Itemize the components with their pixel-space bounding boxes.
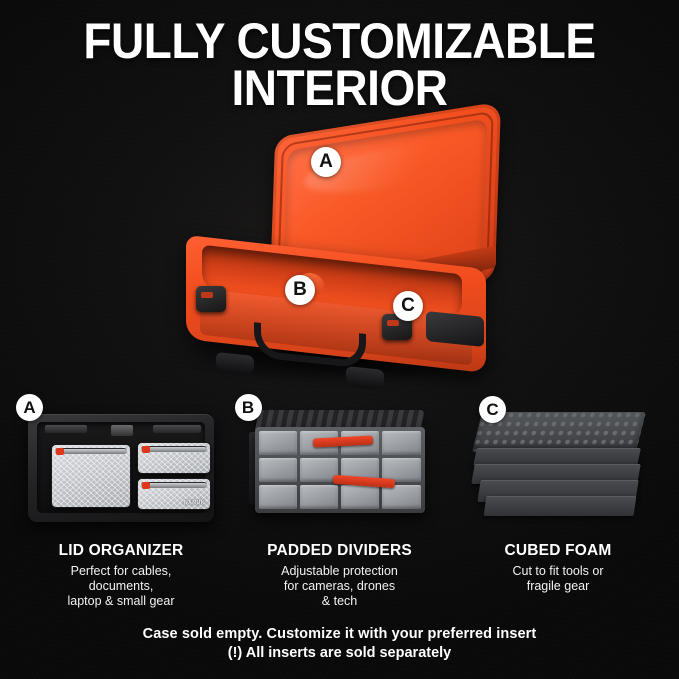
infographic-poster: FULLY CUSTOMIZABLE INTERIOR A B C [0, 0, 679, 679]
card-desc-line: Perfect for cables, [22, 564, 220, 579]
divider-cell [259, 431, 297, 455]
page-title-line-2: INTERIOR [27, 65, 652, 112]
foam-stack [471, 412, 647, 522]
brand-logo: NANUK [184, 500, 205, 506]
foam-layer [484, 496, 637, 516]
insert-options-row: NANUK A LID ORGANIZER Perfect for cables… [0, 398, 679, 608]
card-desc-line: & tech [241, 594, 439, 609]
card-title-padded-dividers: PADDED DIVIDERS [241, 542, 439, 560]
card-title-cubed-foam: CUBED FOAM [459, 542, 657, 560]
zipper-icon [141, 482, 207, 488]
card-badge-c: C [479, 396, 506, 423]
hero-case-image: A B C [168, 118, 513, 396]
divider-cell [341, 485, 379, 509]
divider-cell [259, 458, 297, 482]
organizer-tray: NANUK [28, 414, 214, 522]
card-badge-b: B [235, 394, 262, 421]
card-title-lid-organizer: LID ORGANIZER [22, 542, 220, 560]
insert-card-cubed-foam: C CUBED FOAM Cut to fit tools or fragile… [459, 398, 657, 608]
card-desc-line: laptop & small gear [22, 594, 220, 609]
mesh-pouch-large [51, 444, 131, 508]
card-desc-lid-organizer: Perfect for cables, documents, laptop & … [22, 564, 220, 608]
card-desc-padded-dividers: Adjustable protection for cameras, drone… [241, 564, 439, 608]
case-telescoping-handle [426, 311, 484, 347]
case-latch-left [196, 286, 226, 312]
hero-badge-a: A [311, 147, 341, 177]
mesh-pouch-bottom-right: NANUK [137, 478, 211, 510]
case-wheel-right [346, 366, 384, 390]
insert-card-padded-dividers: B PADDED DIVIDERS Adjustable protection … [241, 398, 439, 608]
card-desc-line: documents, [22, 579, 220, 594]
divider-body [255, 427, 425, 513]
padded-dividers-image: B [241, 398, 439, 530]
organizer-tray-interior: NANUK [37, 422, 205, 513]
divider-assembly [249, 410, 431, 522]
cubed-foam-image: C [459, 398, 657, 530]
zipper-icon [141, 446, 207, 452]
organizer-strap-right [153, 425, 201, 433]
card-desc-line: Cut to fit tools or [459, 564, 657, 579]
card-badge-a: A [16, 394, 43, 421]
divider-cell [259, 485, 297, 509]
card-desc-cubed-foam: Cut to fit tools or fragile gear [459, 564, 657, 594]
hero-badge-b: B [285, 275, 315, 305]
zipper-icon [55, 448, 127, 454]
card-desc-line: Adjustable protection [241, 564, 439, 579]
hero-badge-c: C [393, 291, 423, 321]
mesh-pouch-top-right [137, 442, 211, 474]
page-title: FULLY CUSTOMIZABLE INTERIOR [27, 18, 652, 112]
organizer-strap-center [111, 425, 133, 436]
insert-card-lid-organizer: NANUK A LID ORGANIZER Perfect for cables… [22, 398, 220, 608]
divider-cell [300, 485, 338, 509]
footer-line-1: Case sold empty. Customize it with your … [0, 626, 679, 642]
card-desc-line: fragile gear [459, 579, 657, 594]
card-desc-line: for cameras, drones [241, 579, 439, 594]
footer-line-2: (!) All inserts are sold separately [0, 645, 679, 661]
footer-disclaimer: Case sold empty. Customize it with your … [0, 626, 679, 661]
lid-organizer-image: NANUK A [22, 398, 220, 530]
divider-cell [382, 485, 420, 509]
organizer-strap-left [45, 425, 87, 433]
divider-cell [382, 431, 420, 455]
